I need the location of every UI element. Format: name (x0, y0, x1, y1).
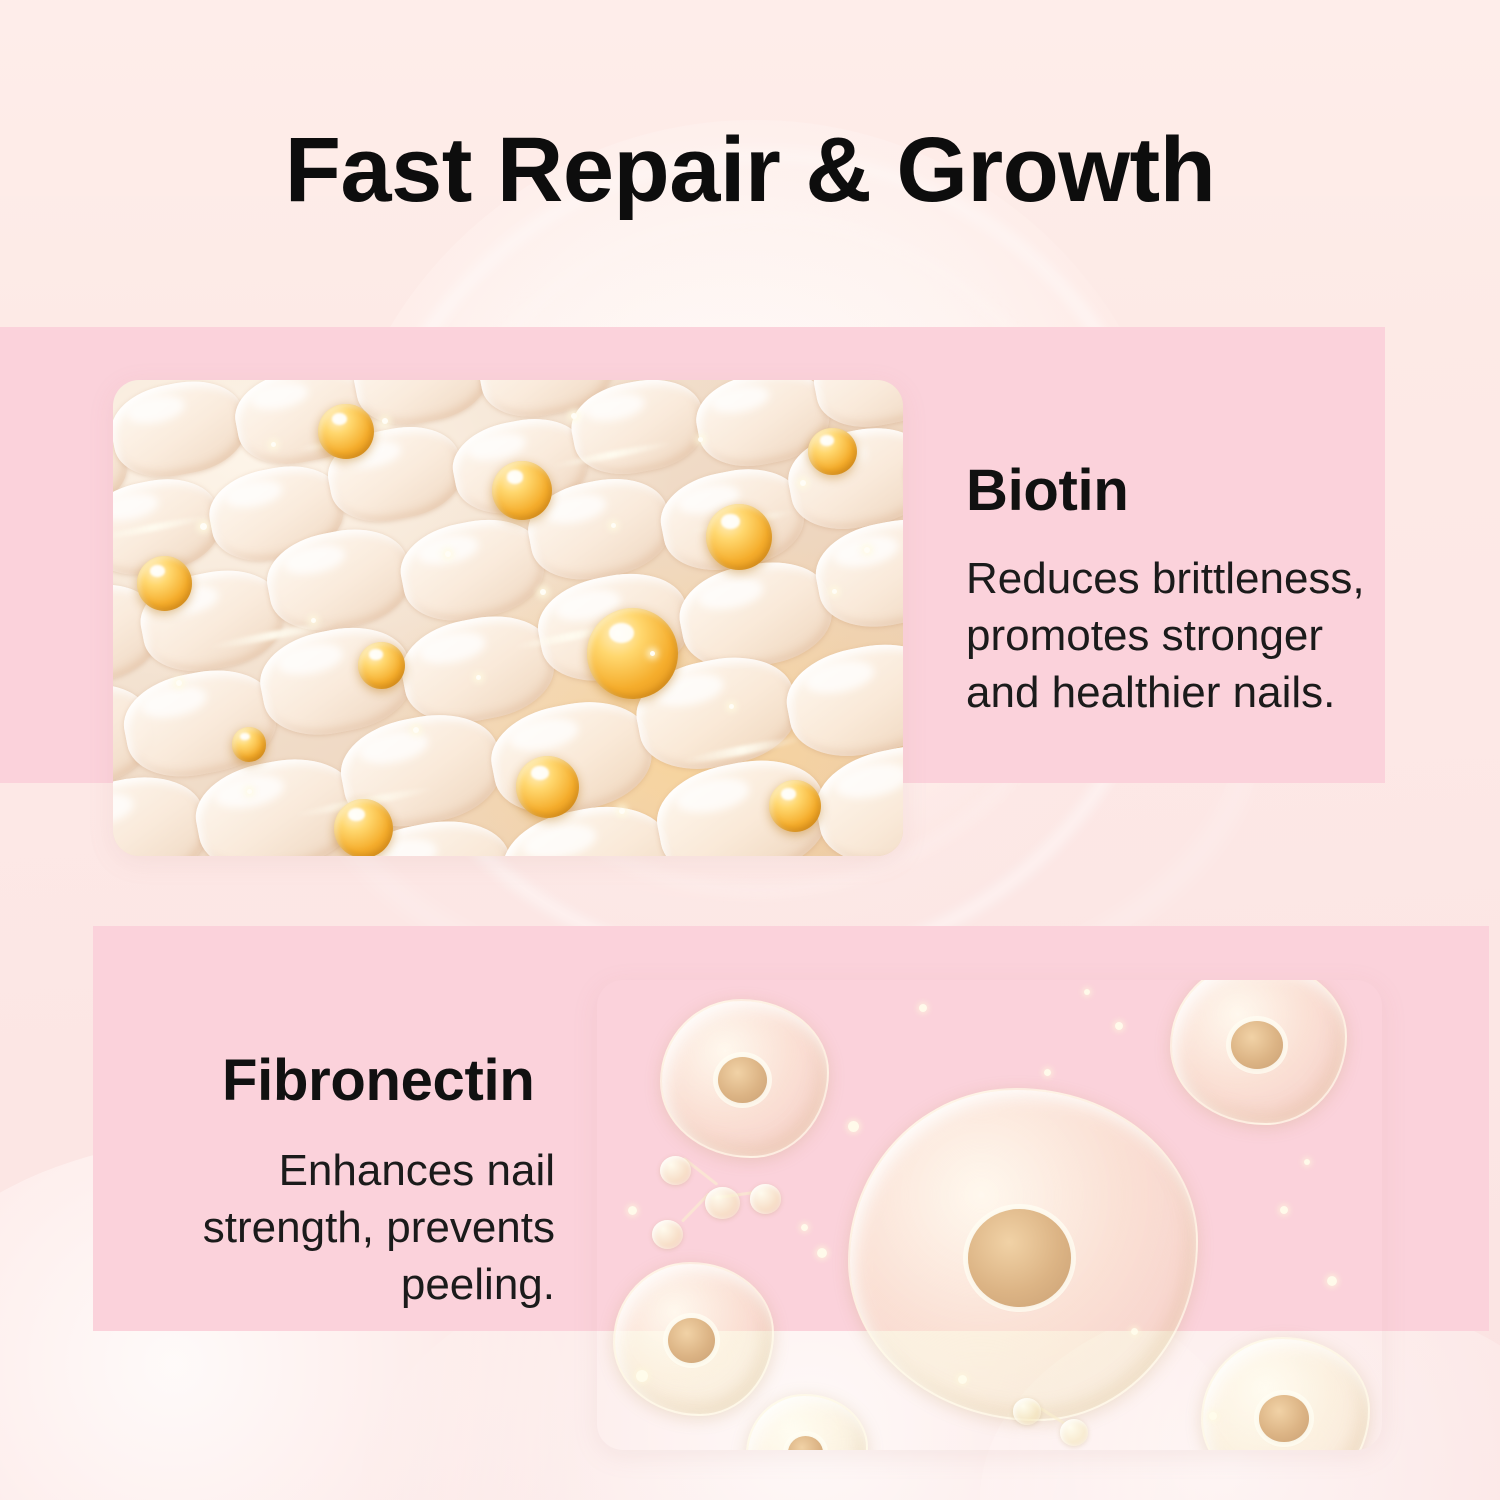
feature-image-biotin (113, 380, 903, 856)
feature-image-fibronectin (597, 980, 1382, 1450)
page-title: Fast Repair & Growth (0, 124, 1500, 216)
cell-sphere (1201, 1337, 1370, 1450)
cell-sphere (613, 1262, 774, 1416)
feature-body-biotin: Reduces brittleness, promotes stronger a… (966, 550, 1396, 722)
cell-sphere (746, 1394, 868, 1450)
biotin-droplet (706, 504, 772, 571)
feature-title-biotin: Biotin (966, 462, 1129, 520)
biotin-droplet (769, 780, 821, 832)
biotin-droplet (587, 608, 678, 698)
infographic-canvas: Fast Repair & Growth (0, 0, 1500, 1500)
cell-sphere (848, 1088, 1197, 1421)
biotin-droplet (334, 799, 393, 856)
biotin-droplet (808, 428, 857, 476)
biotin-droplet (318, 404, 373, 459)
feature-body-fibronectin: Enhances nail strength, prevents peeling… (100, 1142, 555, 1314)
biotin-droplet (516, 756, 579, 818)
biotin-droplet (137, 556, 192, 611)
feature-title-fibronectin: Fibronectin (222, 1052, 534, 1110)
cell-sphere (660, 999, 829, 1158)
cell-sphere (1170, 980, 1347, 1125)
biotin-droplet (232, 727, 267, 761)
